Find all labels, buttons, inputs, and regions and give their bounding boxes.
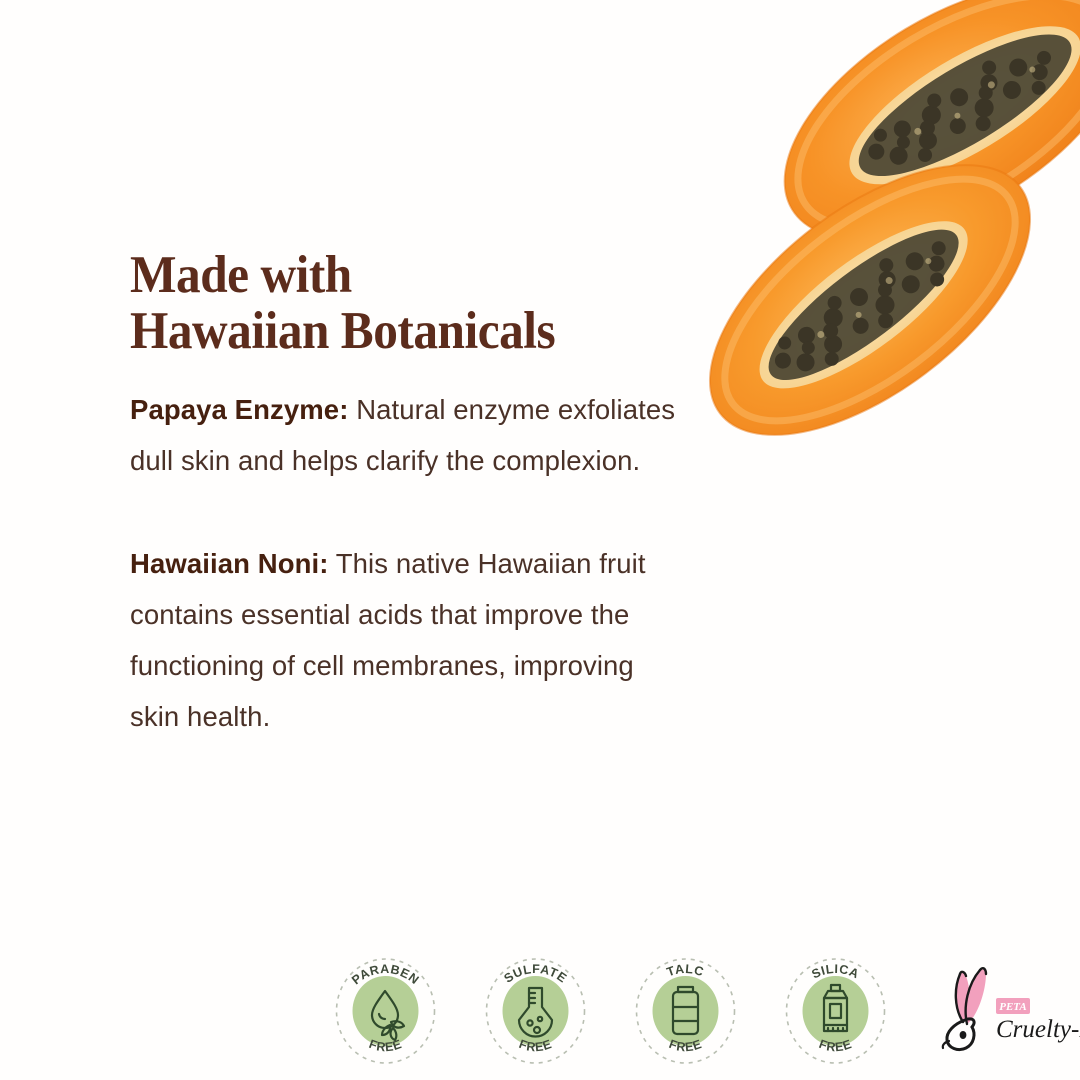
badge-sulfate-free: SULFATE FREE <box>480 951 591 1069</box>
badge-silica-free: SILICA FREE <box>780 951 891 1069</box>
content-column: Made with Hawaiian Botanicals Papaya Enz… <box>130 248 690 743</box>
peta-cruelty-free-logo: PETA Cruelty-Free <box>932 962 1080 1057</box>
ingredient-paragraph-noni: Hawaiian Noni: This native Hawaiian frui… <box>130 539 690 743</box>
page-title-line-1: Made with <box>130 246 352 304</box>
page-title: Made with Hawaiian Botanicals <box>130 248 651 359</box>
poster-canvas: Made with Hawaiian Botanicals Papaya Enz… <box>0 0 1080 1080</box>
peta-cruelty-free-label: Cruelty-Free <box>996 1016 1080 1043</box>
ingredient-label-papaya: Papaya Enzyme: <box>130 394 348 425</box>
papaya-halves-photo <box>660 0 1080 500</box>
badge-disc <box>803 976 869 1046</box>
page-title-line-2: Hawaiian Botanicals <box>130 304 651 360</box>
certification-badge-row: PARABEN FREE <box>330 947 1030 1072</box>
badge-paraben-free: PARABEN FREE <box>330 951 441 1069</box>
ingredient-paragraph-papaya: Papaya Enzyme: Natural enzyme exfoliates… <box>130 385 690 487</box>
badge-talc-free: TALC FREE <box>630 951 741 1069</box>
papaya-half-upper <box>743 0 1080 292</box>
bunny-icon <box>943 968 986 1049</box>
ingredient-label-noni: Hawaiian Noni: <box>130 548 329 579</box>
papaya-half-lower <box>664 113 1075 486</box>
peta-badge-label: PETA <box>999 1001 1027 1013</box>
